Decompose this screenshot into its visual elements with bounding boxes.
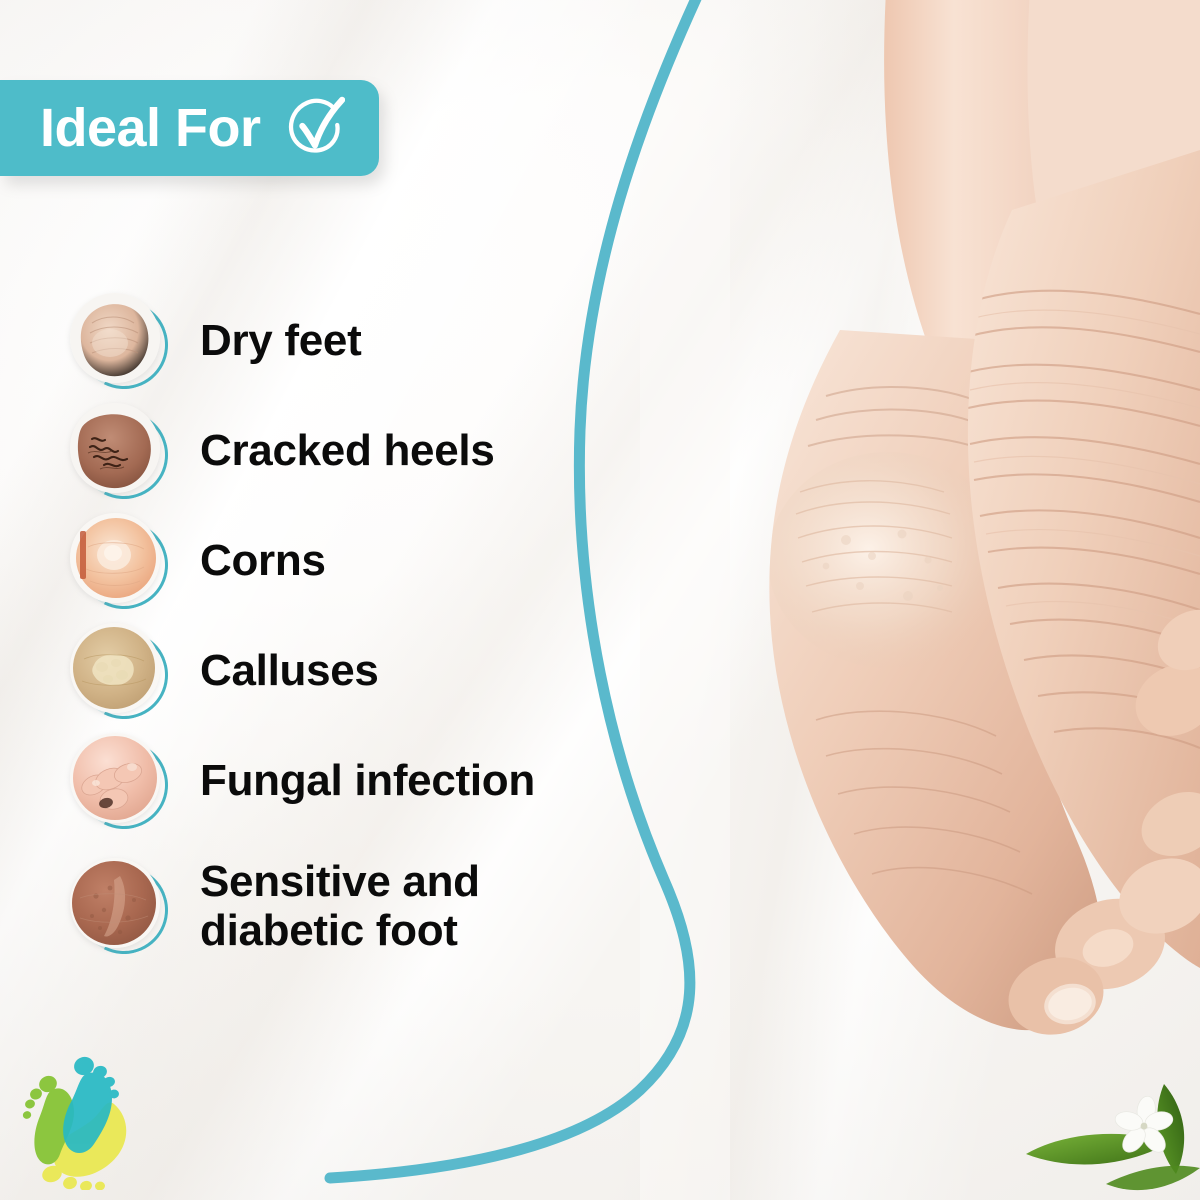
list-item-label: Dry feet [200,316,361,365]
leaves-and-flower-accent [1010,1080,1200,1200]
thumbnail-wrapper [70,858,166,954]
infographic-canvas: Ideal For [0,0,1200,1200]
bare-feet-photo-illustration [640,0,1200,1200]
bare-feet-photo [640,0,1200,1200]
dry-feet-thumbnail [70,293,160,383]
three-footprints-logo [18,1038,168,1190]
list-item[interactable]: Cracked heels [70,396,610,506]
list-item-label: Cracked heels [200,426,495,475]
sensitive-diabetic-foot-thumbnail [70,858,160,948]
list-item[interactable]: Fungal infection [70,726,610,836]
thumbnail-wrapper [70,513,166,609]
cracked-heels-thumbnail [70,403,160,493]
thumbnail-wrapper [70,293,166,389]
ideal-for-list: Dry feet [70,286,610,976]
list-item-label: Calluses [200,646,379,695]
ideal-for-banner: Ideal For [0,80,379,176]
leaf-bottom [1106,1166,1200,1190]
list-item[interactable]: Dry feet [70,286,610,396]
list-item[interactable]: Calluses [70,616,610,726]
list-item[interactable]: Sensitive and diabetic foot [70,836,610,976]
corns-thumbnail [70,513,160,603]
botanical-illustration [1010,1080,1200,1200]
circled-checkmark-icon [283,95,345,157]
thumbnail-wrapper [70,733,166,829]
list-item[interactable]: Corns [70,506,610,616]
calluses-thumbnail [70,623,160,713]
fungal-infection-thumbnail [70,733,160,823]
banner-title: Ideal For [40,101,261,155]
thumbnail-wrapper [70,623,166,719]
list-item-label: Fungal infection [200,756,535,805]
list-item-label: Corns [200,536,326,585]
list-item-label: Sensitive and diabetic foot [200,857,610,956]
thumbnail-wrapper [70,403,166,499]
